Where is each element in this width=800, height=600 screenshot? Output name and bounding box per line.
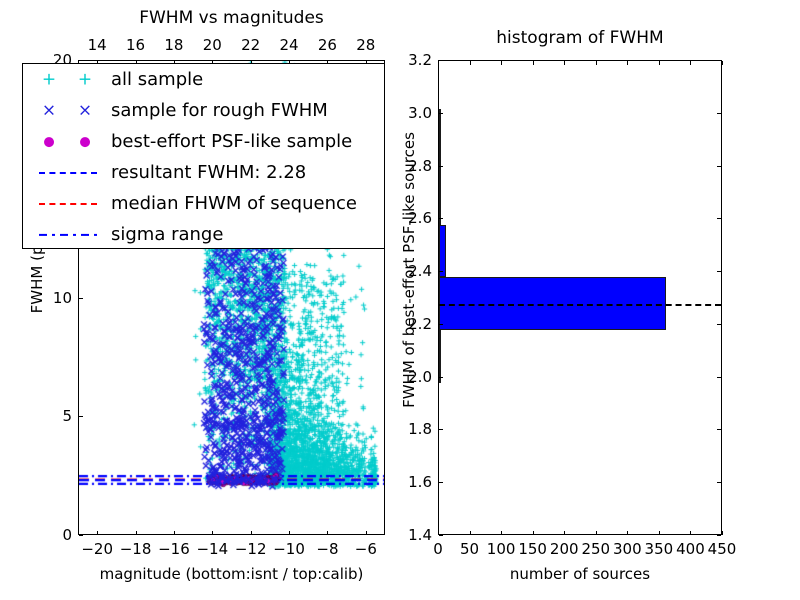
legend-row-1: ××sample for rough FWHM — [23, 95, 384, 126]
y-tick-mark-hist-right — [717, 166, 721, 167]
dashed-line-icon — [39, 172, 97, 174]
figure-canvas: FWHM vs magnitudes 1416182022242628 −20−… — [0, 0, 800, 600]
x-tick-label-bottom: −14 — [196, 540, 228, 558]
y-tick-mark-hist — [439, 271, 443, 272]
y-tick-mark-hist-right — [717, 482, 721, 483]
y-tick-mark-hist — [439, 166, 443, 167]
x-tick-mark-hist-top — [627, 61, 628, 65]
histogram-bar-3 — [439, 109, 441, 225]
x-tick-mark-hist — [627, 531, 628, 535]
x-tick-mark-hist — [722, 531, 723, 535]
x-tick-mark-hist — [659, 531, 660, 535]
x-tick-label-hist: 400 — [676, 540, 705, 558]
x-tick-mark-bottom — [136, 531, 137, 535]
x-tick-label-hist: 300 — [613, 540, 642, 558]
x-tick-mark-bottom — [327, 531, 328, 535]
x-tick-label-hist: 100 — [487, 540, 516, 558]
x-tick-label-bottom: −16 — [158, 540, 190, 558]
y-tick-mark-hist — [439, 113, 443, 114]
x-tick-label-top: 16 — [126, 36, 145, 54]
x-tick-label-hist: 450 — [708, 540, 737, 558]
x-tick-label-hist: 150 — [518, 540, 547, 558]
histogram-resultant-line — [439, 304, 721, 306]
y-tick-mark-hist — [439, 218, 443, 219]
x-tick-label-bottom: −8 — [316, 540, 338, 558]
cross-icon: × — [78, 102, 92, 119]
x-tick-mark-hist-top — [470, 61, 471, 65]
histogram-bar-0 — [439, 330, 441, 383]
x-tick-label-bottom: −12 — [235, 540, 267, 558]
dot-icon: ● — [43, 135, 54, 148]
x-tick-mark-bottom — [97, 531, 98, 535]
x-tick-mark-bottom — [251, 531, 252, 535]
x-tick-mark-hist-top — [596, 61, 597, 65]
plus-icon: + — [42, 71, 56, 88]
legend-row-3: resultant FWHM: 2.28 — [23, 157, 384, 188]
y-tick-mark-hist — [439, 324, 443, 325]
x-tick-mark-hist-top — [690, 61, 691, 65]
x-tick-mark-hist — [533, 531, 534, 535]
y-tick-mark-left — [79, 535, 83, 536]
y-tick-mark-left — [79, 60, 83, 61]
y-tick-mark-left — [79, 298, 83, 299]
y-tick-mark-hist-right — [717, 377, 721, 378]
x-tick-label-top: 26 — [318, 36, 337, 54]
x-tick-mark-hist — [501, 531, 502, 535]
histogram-bar-2 — [439, 225, 446, 278]
legend-marker-dashed-icon — [23, 157, 111, 188]
x-tick-mark-bottom — [289, 531, 290, 535]
y-tick-mark-hist — [439, 377, 443, 378]
histogram-axes — [438, 60, 722, 535]
legend-marker-plus-icon: ++ — [23, 64, 111, 95]
x-tick-mark-hist — [690, 531, 691, 535]
x-tick-mark-hist — [564, 531, 565, 535]
x-tick-label-hist: 0 — [433, 540, 443, 558]
x-tick-mark-hist-top — [722, 61, 723, 65]
plus-icon: + — [78, 71, 92, 88]
x-tick-label-hist: 250 — [581, 540, 610, 558]
y-tick-label-hist: 1.4 — [408, 526, 432, 544]
x-tick-label-top: 14 — [88, 36, 107, 54]
dashed-line-icon — [39, 203, 97, 205]
dot-icon: ● — [79, 135, 90, 148]
x-tick-mark-bottom — [174, 531, 175, 535]
legend-row-2: ●●best-effort PSF-like sample — [23, 126, 384, 157]
y-tick-label-left: 5 — [62, 407, 72, 425]
legend-label-5: sigma range — [111, 224, 223, 245]
legend-label-3: resultant FWHM: 2.28 — [111, 162, 306, 183]
cross-icon: × — [42, 102, 56, 119]
histogram-bars — [439, 61, 721, 534]
y-tick-mark-hist-right — [717, 324, 721, 325]
y-tick-mark-hist-right — [717, 535, 721, 536]
legend-label-2: best-effort PSF-like sample — [111, 131, 352, 152]
x-tick-label-top: 18 — [164, 36, 183, 54]
y-tick-mark-hist-right — [717, 218, 721, 219]
right-panel-title: histogram of FWHM — [438, 28, 722, 48]
y-tick-label-left: 0 — [62, 526, 72, 544]
x-tick-mark-hist-top — [438, 61, 439, 65]
x-tick-mark-bottom — [366, 531, 367, 535]
y-tick-label-left: 10 — [53, 289, 72, 307]
x-tick-mark-hist-top — [564, 61, 565, 65]
legend-marker-dashed-icon — [23, 188, 111, 219]
legend-marker-dot-icon: ●● — [23, 126, 111, 157]
x-tick-mark-hist-top — [501, 61, 502, 65]
x-tick-mark-hist-top — [533, 61, 534, 65]
legend-row-4: median FHWM of sequence — [23, 188, 384, 219]
y-tick-mark-hist-right — [717, 271, 721, 272]
right-panel-ylabel: FWHM of best-effort PSF-like sources — [400, 60, 418, 480]
x-tick-mark-bottom — [212, 531, 213, 535]
legend-row-5: sigma range — [23, 219, 384, 250]
x-tick-mark-hist — [596, 531, 597, 535]
y-tick-mark-hist-right — [717, 429, 721, 430]
left-panel-xlabel: magnitude (bottom:isnt / top:calib) — [58, 565, 405, 583]
y-tick-mark-hist — [439, 429, 443, 430]
legend-label-0: all sample — [111, 69, 203, 90]
right-panel-xlabel: number of sources — [438, 565, 722, 583]
x-tick-label-bottom: −18 — [120, 540, 152, 558]
y-tick-mark-hist-right — [717, 113, 721, 114]
x-tick-label-top: 28 — [356, 36, 375, 54]
legend-marker-dashdot-icon — [23, 219, 111, 250]
y-tick-mark-hist-right — [717, 60, 721, 61]
x-tick-label-top: 20 — [203, 36, 222, 54]
y-tick-mark-hist — [439, 535, 443, 536]
legend-box: ++all sample××sample for rough FWHM●●bes… — [22, 63, 385, 249]
x-tick-label-hist: 200 — [550, 540, 579, 558]
x-tick-mark-hist — [470, 531, 471, 535]
legend-label-1: sample for rough FWHM — [111, 100, 328, 121]
y-tick-mark-hist — [439, 482, 443, 483]
legend-label-4: median FHWM of sequence — [111, 193, 357, 214]
dashdot-line-icon — [39, 233, 97, 235]
x-tick-label-top: 22 — [241, 36, 260, 54]
x-tick-label-bottom: −6 — [355, 540, 377, 558]
y-tick-mark-hist — [439, 60, 443, 61]
x-tick-label-top: 24 — [280, 36, 299, 54]
x-tick-label-bottom: −10 — [273, 540, 305, 558]
y-tick-mark-left — [79, 416, 83, 417]
x-tick-label-hist: 350 — [645, 540, 674, 558]
legend-marker-cross-icon: ×× — [23, 95, 111, 126]
left-panel-title: FWHM vs magnitudes — [78, 8, 385, 28]
x-tick-label-hist: 50 — [460, 540, 479, 558]
legend-row-0: ++all sample — [23, 64, 384, 95]
x-tick-mark-hist-top — [659, 61, 660, 65]
x-tick-label-bottom: −20 — [81, 540, 113, 558]
